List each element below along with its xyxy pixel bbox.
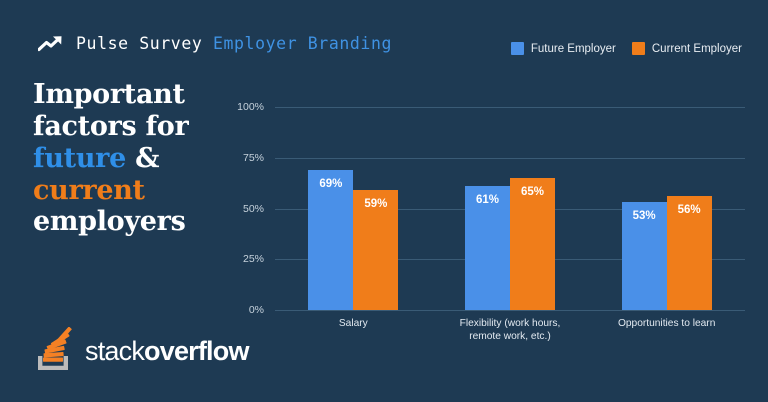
legend-label-current-employer: Current Employer [652,43,742,55]
bar-value-label: 65% [510,186,555,198]
stack-overflow-logo: stackoverflow [33,327,249,375]
bar-value-label: 56% [667,204,712,216]
bar-current-employer[interactable]: 59% [353,107,398,310]
stack-overflow-wordmark: stackoverflow [85,336,249,367]
y-axis-tick-label: 100% [204,101,264,113]
stack-overflow-mark-icon [33,327,75,375]
legend-item-future-employer: Future Employer [511,42,616,55]
headline-ampersand: & [135,143,159,174]
x-axis-category-label: Opportunities to learn [588,317,745,330]
header-title-accent: Employer Branding [213,34,392,53]
bar-future-employer[interactable]: 53% [622,107,667,310]
headline-line-5: employers [33,206,185,237]
gridline [275,310,745,311]
x-axis-category-label: Salary [275,317,432,330]
bar-value-label: 53% [622,210,667,222]
y-axis-tick-label: 0% [204,304,264,316]
trending-up-icon [38,33,64,53]
legend-item-current-employer: Current Employer [632,42,742,55]
bar-current-employer[interactable]: 65% [510,107,555,310]
bar-future-employer[interactable]: 69% [308,107,353,310]
bar-group: 53%56% [622,107,712,310]
page-title: Important factors for future & current e… [33,79,233,238]
y-axis-tick-label: 25% [204,253,264,265]
legend-swatch-current-employer [632,42,645,55]
header-title: Pulse Survey Employer Branding [76,34,392,53]
legend-label-future-employer: Future Employer [531,43,616,55]
bar-group: 61%65% [465,107,555,310]
y-axis-tick-label: 75% [204,152,264,164]
bar-current-employer[interactable]: 56% [667,107,712,310]
y-axis-tick-label: 50% [204,203,264,215]
logo-text-stack: stack [85,336,144,366]
bar-value-label: 61% [465,194,510,206]
bar-fill [308,170,353,310]
chart-legend: Future Employer Current Employer [511,42,742,55]
header: Pulse Survey Employer Branding [38,33,392,53]
bar-future-employer[interactable]: 61% [465,107,510,310]
bar-value-label: 69% [308,178,353,190]
headline-line-2: factors for [33,111,188,142]
infographic-canvas: Pulse Survey Employer Branding Future Em… [0,0,768,402]
x-axis-category-label: Flexibility (work hours,remote work, etc… [432,317,589,344]
plot-area: 69%59%61%65%53%56% [275,107,745,310]
legend-swatch-future-employer [511,42,524,55]
logo-text-overflow: overflow [144,336,249,366]
bar-value-label: 59% [353,198,398,210]
header-title-main: Pulse Survey [76,34,202,53]
headline-line-1: Important [33,79,185,110]
bar-group: 69%59% [308,107,398,310]
headline-word-future: future [33,143,126,174]
headline-word-current: current [33,175,145,206]
bar-chart: 0%25%50%75%100% 69%59%61%65%53%56% Salar… [232,95,752,360]
x-axis-labels: SalaryFlexibility (work hours,remote wor… [275,317,745,357]
